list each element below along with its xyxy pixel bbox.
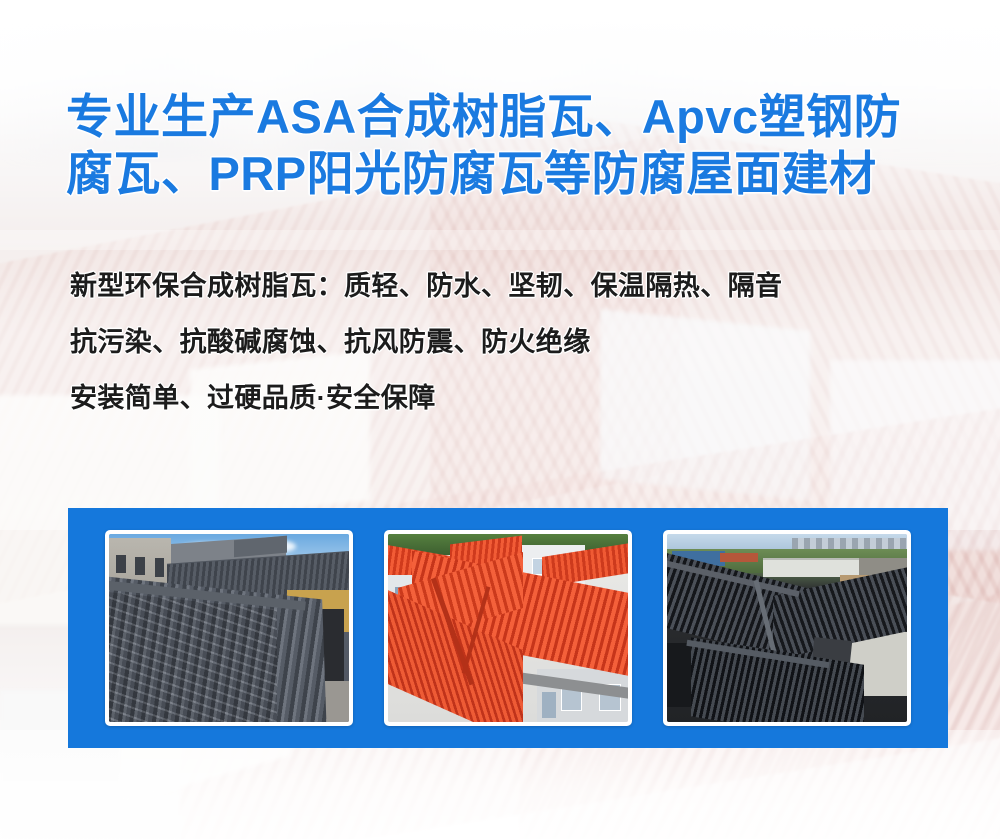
headline-line-2: 腐瓦、PRP阳光防腐瓦等防腐屋面建材	[66, 145, 946, 202]
photo-gallery-panel	[68, 508, 948, 748]
feature-line-1: 新型环保合成树脂瓦：质轻、防水、坚韧、保温隔热、隔音	[70, 272, 970, 301]
headline-line-1: 专业生产ASA合成树脂瓦、Apvc塑钢防	[66, 88, 946, 145]
photo-black-resin-tile-roof-aerial	[663, 530, 911, 726]
banner-headline: 专业生产ASA合成树脂瓦、Apvc塑钢防 腐瓦、PRP阳光防腐瓦等防腐屋面建材	[66, 88, 946, 202]
feature-line-3: 安装简单、过硬品质·安全保障	[70, 384, 970, 413]
photo-dark-grey-resin-tile-roof	[105, 530, 353, 726]
feature-list: 新型环保合成树脂瓦：质轻、防水、坚韧、保温隔热、隔音 抗污染、抗酸碱腐蚀、抗风防…	[70, 272, 970, 413]
product-banner: 专业生产ASA合成树脂瓦、Apvc塑钢防 腐瓦、PRP阳光防腐瓦等防腐屋面建材 …	[0, 0, 1000, 839]
feature-line-2: 抗污染、抗酸碱腐蚀、抗风防震、防火绝缘	[70, 328, 970, 357]
photo-red-resin-tile-roof	[384, 530, 632, 726]
